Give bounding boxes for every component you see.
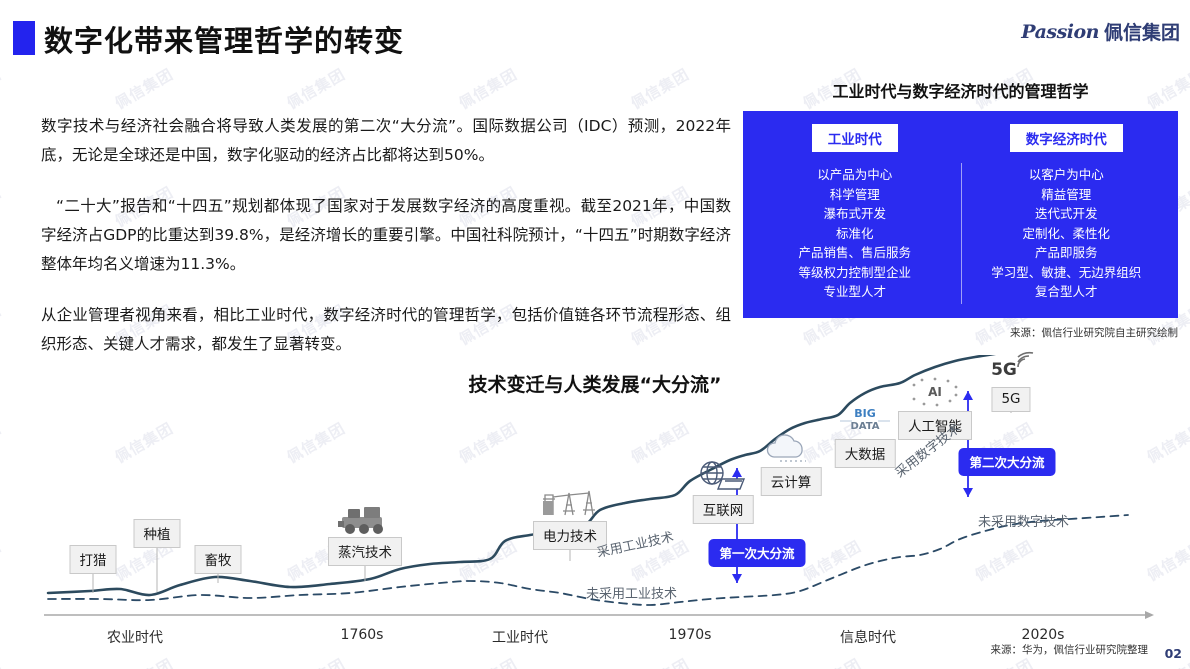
watermark-text: 佩信集团 (627, 63, 693, 113)
chart-node-label: 畜牧 (195, 545, 242, 574)
divergence-badge: 第一次大分流 (708, 539, 805, 567)
comparison-column-industrial: 工业时代 以产品为中心 科学管理 瀑布式开发 标准化 产品销售、售后服务 等级权… (749, 124, 961, 302)
paragraph-1: 数字技术与经济社会融合将导致人类发展的第二次“大分流”。国际数据公司（IDC）预… (41, 112, 731, 170)
page-title: 数字化带来管理哲学的转变 (44, 18, 404, 60)
watermark-text: 佩信集团 (283, 653, 349, 669)
axis-tick-label: 1970s (669, 627, 712, 643)
watermark-text: 佩信集团 (455, 653, 521, 669)
slide-page: 佩信集团佩信集团佩信集团佩信集团佩信集团佩信集团佩信集团佩信集团佩信集团佩信集团… (0, 0, 1190, 669)
svg-text:BIG: BIG (854, 407, 876, 420)
list-item: 定制化、柔性化 (1022, 224, 1110, 244)
cloud-icon (760, 431, 822, 470)
paragraph-3: 从企业管理者视角来看，相比工业时代，数字经济时代的管理哲学，包括价值链各环节流程… (41, 301, 731, 359)
body-copy: 数字技术与经济社会融合将导致人类发展的第二次“大分流”。国际数据公司（IDC）预… (41, 112, 731, 381)
watermark-text: 佩信集团 (0, 181, 5, 231)
watermark-text: 佩信集团 (799, 653, 865, 669)
list-item: 瀑布式开发 (823, 204, 886, 224)
chart-node-label: 云计算 (761, 467, 822, 496)
watermark-text: 佩信集团 (0, 63, 5, 113)
list-item: 科学管理 (830, 185, 880, 205)
column-header-industrial: 工业时代 (812, 124, 898, 152)
divergence-badge: 第二次大分流 (958, 448, 1055, 476)
list-item: 迭代式开发 (1035, 204, 1098, 224)
column-divider (961, 163, 962, 304)
list-item: 复合型人才 (1035, 282, 1098, 302)
list-item: 产品销售、售后服务 (798, 243, 911, 263)
list-item: 以产品为中心 (817, 165, 892, 185)
brand-logo: Passion 佩信集团 (1021, 21, 1180, 43)
series-label: 未采用数字技术 (978, 511, 1069, 530)
timeline-chart: 打猎种植畜牧蒸汽技术电力技术互联网云计算BIGDATA大数据AI人工智能5G5G… (0, 355, 1190, 635)
paragraph-2: “二十大”报告和“十四五”规划都体现了国家对于发展数字经济的高度重视。截至202… (41, 192, 731, 279)
watermark-text: 佩信集团 (0, 299, 5, 349)
watermark-text: 佩信集团 (0, 653, 5, 669)
comparison-panel: 工业时代与数字经济时代的管理哲学 工业时代 以产品为中心 科学管理 瀑布式开发 … (743, 78, 1178, 340)
axis-tick-label: 信息时代 (840, 627, 896, 647)
list-item: 专业型人才 (823, 282, 886, 302)
watermark-text: 佩信集团 (111, 653, 177, 669)
watermark-text: 佩信集团 (283, 63, 349, 113)
watermark-text: 佩信集团 (455, 63, 521, 113)
axis-tick-label: 工业时代 (492, 627, 548, 647)
chart-node-label: 互联网 (693, 495, 754, 524)
big-data-icon: BIGDATA (834, 403, 896, 442)
power-grid-icon (539, 485, 601, 524)
series-label: 未采用工业技术 (586, 583, 677, 602)
brand-script-text: Passion (1021, 21, 1099, 43)
axis-arrow-icon (1145, 611, 1154, 619)
slide-header: 数字化带来管理哲学的转变 Passion 佩信集团 (0, 0, 1190, 62)
axis-tick-label: 2020s (1022, 627, 1065, 643)
axis-tick-label: 1760s (341, 627, 384, 643)
list-item: 等级权力控制型企业 (798, 263, 911, 283)
chart-node-label: 种植 (134, 519, 181, 548)
axis-tick-label: 农业时代 (107, 627, 163, 647)
comparison-title: 工业时代与数字经济时代的管理哲学 (743, 78, 1178, 102)
brand-cn-text: 佩信集团 (1104, 24, 1180, 43)
steam-engine-icon (334, 501, 396, 540)
page-number: 02 (1165, 646, 1182, 661)
svg-text:DATA: DATA (850, 421, 879, 432)
list-item: 以客户为中心 (1029, 165, 1104, 185)
comparison-box: 工业时代 以产品为中心 科学管理 瀑布式开发 标准化 产品销售、售后服务 等级权… (743, 111, 1178, 318)
chart-node-label: 大数据 (835, 439, 896, 468)
title-accent-bar (13, 21, 35, 55)
list-item: 精益管理 (1041, 185, 1091, 205)
chart-node-label: 蒸汽技术 (328, 537, 402, 566)
watermark-text: 佩信集团 (111, 63, 177, 113)
list-item: 学习型、敏捷、无边界组织 (991, 263, 1141, 283)
list-item: 标准化 (836, 224, 874, 244)
chart-node-label: 打猎 (70, 545, 117, 574)
list-item: 产品即服务 (1035, 243, 1098, 263)
comparison-source: 来源：佩信行业研究院自主研究绘制 (743, 325, 1178, 340)
internet-icon (692, 459, 754, 498)
watermark-text: 佩信集团 (627, 653, 693, 669)
chart-title: 技术变迁与人类发展“大分流” (0, 370, 1190, 397)
column-header-digital: 数字经济时代 (1010, 124, 1123, 152)
chart-source: 来源：华为，佩信行业研究院整理 (991, 642, 1149, 657)
comparison-column-digital: 数字经济时代 以客户为中心 精益管理 迭代式开发 定制化、柔性化 产品即服务 学… (961, 124, 1173, 302)
